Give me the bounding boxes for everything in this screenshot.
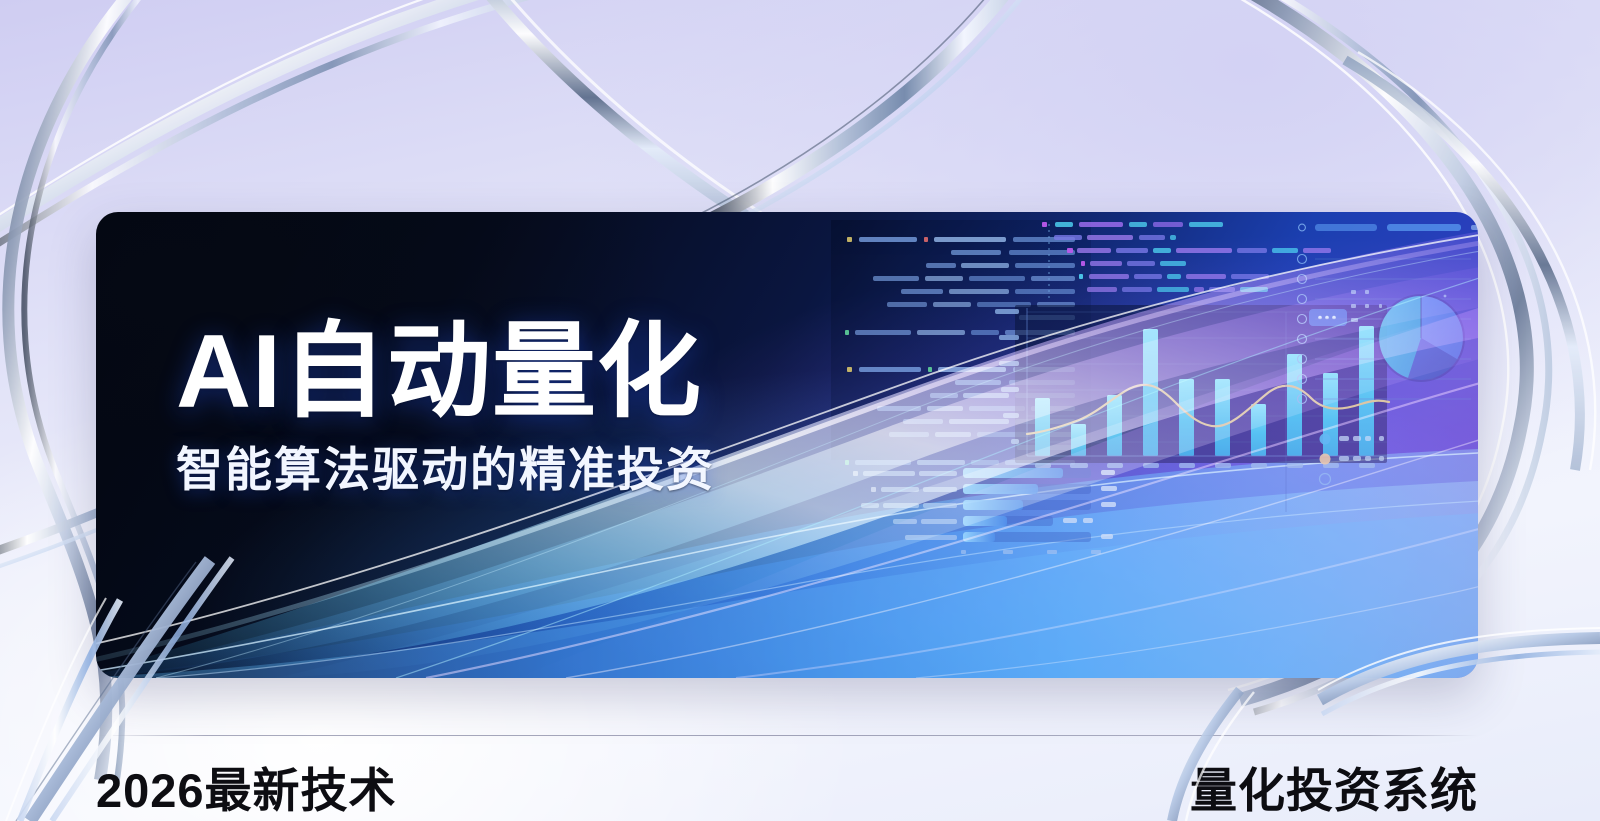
distribution-pie-chart bbox=[1377, 294, 1465, 382]
footer-divider bbox=[96, 735, 1478, 736]
horizontal-bar-chart bbox=[853, 468, 1117, 554]
footer-left-label: 2026最新技术 bbox=[96, 752, 397, 821]
page-title: AI自动量化 bbox=[176, 320, 715, 424]
ribbon-diagonal-upper bbox=[470, 0, 774, 225]
headline-block: AI自动量化 智能算法驱动的精准投资 bbox=[176, 320, 715, 493]
main-bar-chart bbox=[995, 305, 1389, 468]
dashboard-graphic bbox=[831, 212, 1478, 678]
hero-card: AI自动量化 智能算法驱动的精准投资 bbox=[96, 212, 1478, 678]
poster-root: AI自动量化 智能算法驱动的精准投资 bbox=[0, 0, 1600, 821]
ribbon-diagonal-top-right bbox=[690, 0, 1046, 231]
chart-tooltip-badge bbox=[1309, 309, 1347, 326]
footer-right-label: 量化投资系统 bbox=[1190, 752, 1478, 821]
page-subtitle: 智能算法驱动的精准投资 bbox=[176, 446, 715, 493]
